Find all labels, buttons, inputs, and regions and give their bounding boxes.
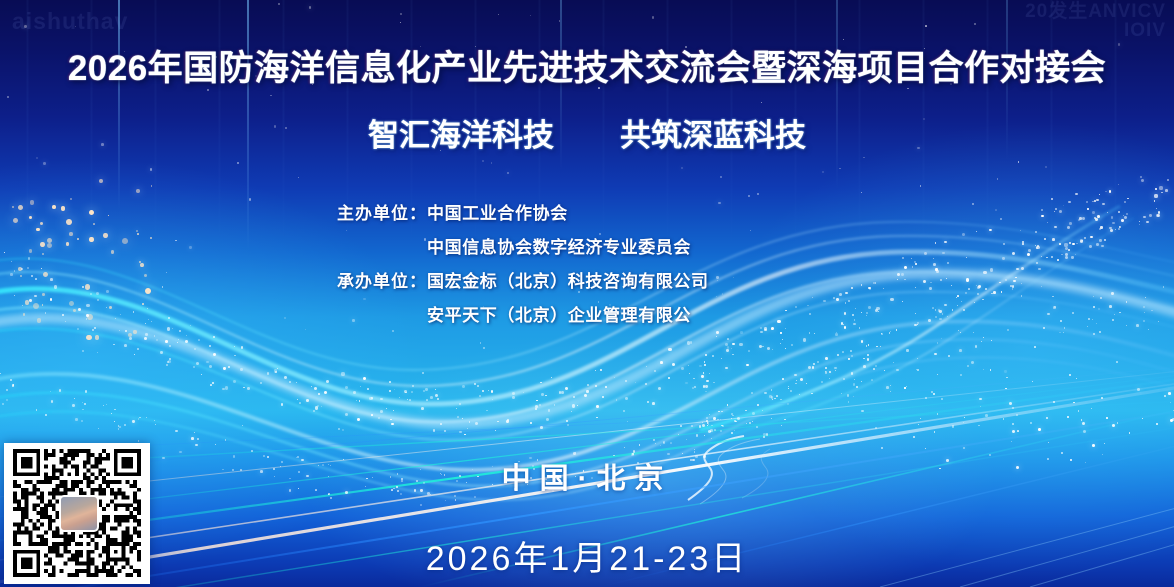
organizer-row: 主办单位： 中国工业合作协会 — [337, 199, 857, 233]
conference-poster-banner: aishuthav 20发生ANVICV IOIV 2026年国防海洋信息化产业… — [0, 0, 1174, 587]
poster-title: 2026年国防海洋信息化产业先进技术交流会暨深海项目合作对接会 — [0, 40, 1174, 91]
subtitle-right: 共筑深蓝科技 — [620, 118, 806, 153]
organizer-value: 中国工业合作协会 — [427, 199, 568, 224]
organizer-row: 主办单位： 中国信息协会数字经济专业委员会 — [337, 233, 857, 267]
organizer-label: 承办单位： — [337, 267, 427, 292]
organizer-row: 承办单位： 安平天下（北京）企业管理有限公 — [337, 301, 857, 335]
event-date: 2026年1月21-23日 — [0, 531, 1174, 580]
organizer-value: 国宏金标（北京）科技咨询有限公司 — [427, 267, 709, 292]
location-text: 中国·北京 — [0, 455, 1174, 497]
qr-code[interactable] — [4, 443, 150, 584]
organizer-row: 承办单位： 国宏金标（北京）科技咨询有限公司 — [337, 267, 857, 301]
organizer-block: 主办单位： 中国工业合作协会 主办单位： 中国信息协会数字经济专业委员会 承办单… — [337, 199, 857, 335]
light-streak — [118, 0, 120, 210]
light-streak — [836, 0, 838, 190]
qr-code-center-logo — [59, 495, 99, 532]
organizer-value: 安平天下（北京）企业管理有限公 — [427, 301, 691, 326]
organizer-value: 中国信息协会数字经济专业委员会 — [427, 233, 691, 258]
organizer-label: 主办单位： — [337, 199, 427, 224]
subtitle-left: 智汇海洋科技 — [368, 118, 554, 153]
poster-subtitle: 智汇海洋科技共筑深蓝科技 — [0, 110, 1174, 155]
